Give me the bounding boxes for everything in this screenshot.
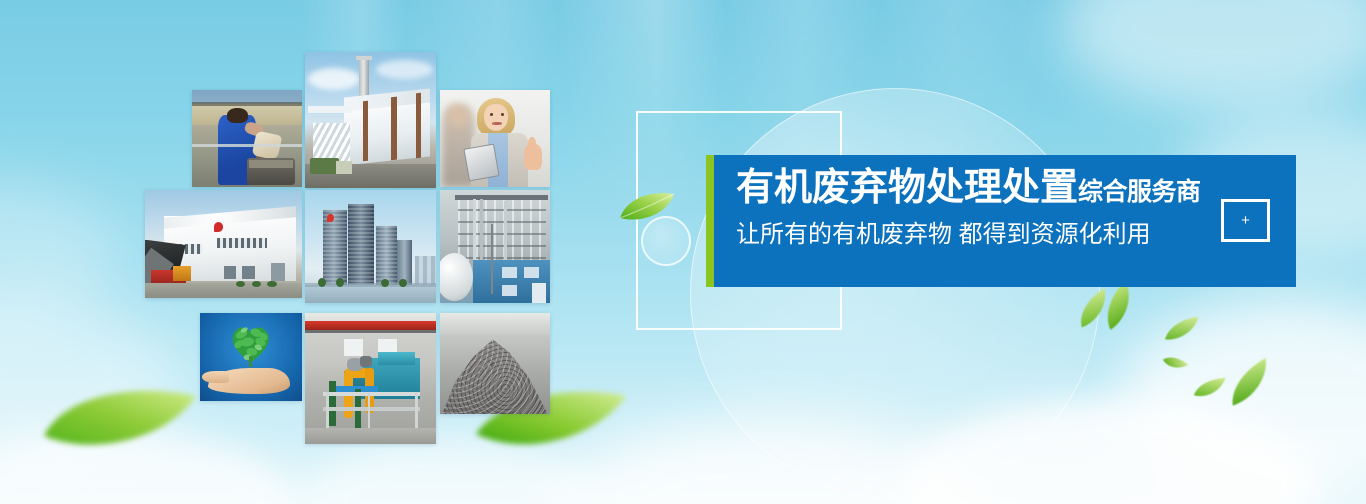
cloud-top-right (1060, 0, 1366, 110)
photo-factory-workshop-truck (145, 190, 302, 298)
photo-worker-feeding-material (192, 90, 302, 187)
mosaic-tile-hand-holding-leaf-heart[interactable] (200, 313, 302, 401)
photo-incineration-plant (305, 52, 436, 188)
mosaic-tile-factory-workshop-truck[interactable] (145, 190, 302, 298)
photo-office-towers (305, 190, 436, 303)
cloud-left-upper (0, 180, 120, 330)
leaf-icon-float-3 (1160, 313, 1204, 344)
mosaic-tile-businesswoman-thumbs-up[interactable] (440, 90, 550, 187)
mosaic-tile-worker-feeding-material[interactable] (192, 90, 302, 187)
mosaic-tile-process-equipment-plant[interactable] (440, 190, 550, 303)
banner-text-block: 有机废弃物处理处置综合服务商 让所有的有机废弃物 都得到资源化利用 (736, 169, 1201, 249)
plus-button[interactable]: + (1221, 199, 1270, 242)
photo-pipeline-machinery (305, 313, 436, 444)
banner-headline-main: 有机废弃物处理处置 (736, 167, 1078, 209)
mosaic-tile-incineration-plant[interactable] (305, 52, 436, 188)
cloud-bottom-center (560, 420, 980, 504)
cloud-right-lower (1120, 300, 1366, 500)
photo-sludge-pile (440, 313, 550, 414)
banner-headline-sub: 综合服务商 (1078, 178, 1201, 206)
small-ring (641, 216, 691, 266)
mosaic-tile-sludge-pile[interactable] (440, 313, 550, 414)
promo-banner: 有机废弃物处理处置综合服务商 让所有的有机废弃物 都得到资源化利用 (706, 155, 1296, 287)
plus-icon: + (1241, 213, 1250, 228)
cloud-bottom-right (900, 400, 1320, 504)
hero-banner: 有机废弃物处理处置综合服务商 让所有的有机废弃物 都得到资源化利用 + (0, 0, 1366, 504)
leaf-icon-float-6 (1218, 355, 1281, 411)
cloud-left-mid (0, 300, 180, 470)
cloud-wisp-center (300, 440, 600, 504)
leaf-icon-float-4 (1160, 349, 1191, 377)
mosaic-tile-pipeline-machinery[interactable] (305, 313, 436, 444)
leaf-icon-float-5 (1191, 376, 1229, 401)
large-translucent-circle (690, 88, 1100, 498)
cloud-bottom-left (0, 430, 300, 504)
banner-subtitle: 让所有的有机废弃物 都得到资源化利用 (736, 221, 1201, 249)
photo-businesswoman-thumbs-up (440, 90, 550, 187)
mosaic-tile-office-towers[interactable] (305, 190, 436, 303)
leaf-icon-bottom-left-large (40, 378, 200, 458)
photo-hand-holding-leaf-heart (200, 313, 302, 401)
leaf-icon-float-1 (1069, 285, 1120, 333)
leaf-icon-left-small (618, 188, 678, 226)
banner-accent-bar (706, 155, 714, 287)
banner-headline: 有机废弃物处理处置综合服务商 (736, 169, 1201, 207)
photo-process-equipment-plant (440, 190, 550, 303)
